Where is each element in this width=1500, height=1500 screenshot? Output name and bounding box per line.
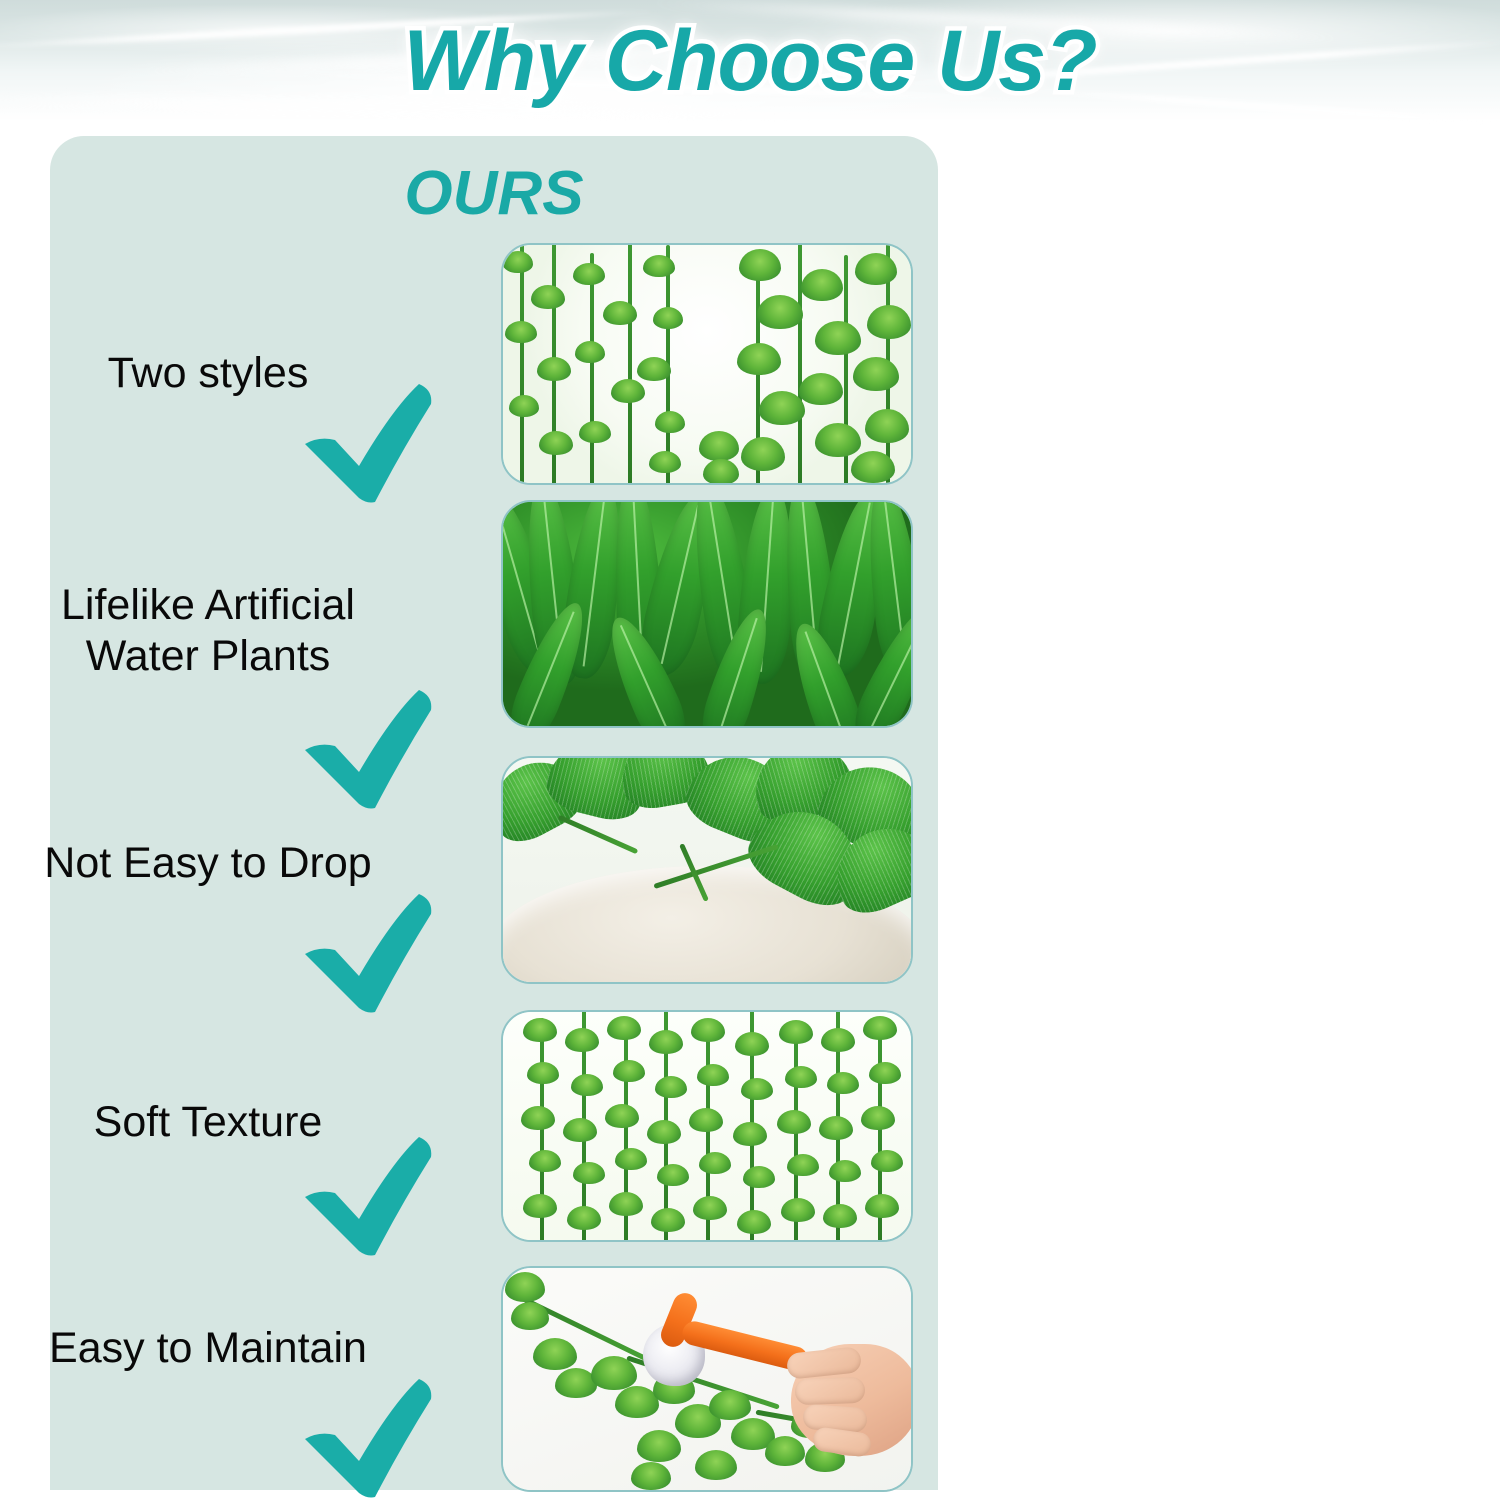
others-item-label: Lack of Realism [958,850,1476,893]
ours-photo-card [501,1266,913,1492]
check-icon [301,1377,436,1499]
ours-photo-card [501,756,913,984]
cross-icon [1190,1238,1282,1330]
check-icon [301,382,436,504]
two-styles-plants-photo [503,245,911,483]
infographic-root: Why Choose Us? OURS Two styles Lifelike … [0,0,1500,1500]
others-heading: OTHERS [958,548,1476,619]
others-item-label: Fragile and Easy to Drop [958,1012,1476,1055]
check-icon [301,892,436,1014]
cross-icon [1263,906,1355,998]
check-icon [301,1135,436,1257]
weighted-base-photo [503,758,911,982]
ours-heading: OURS [50,158,938,229]
others-item-label: Sharp Edges [958,1182,1476,1225]
ours-item-label-line2: Water Plants [0,631,418,682]
page-title: Why Choose Us? [0,12,1500,111]
ours-photo-card [501,1010,913,1242]
ours-item-label: Lifelike Artificial Water Plants [0,580,418,681]
lifelike-leaves-photo [503,502,911,726]
ours-photo-card [501,500,913,728]
ours-photo-card [501,243,913,485]
check-icon [301,688,436,810]
cross-icon [1298,1406,1390,1498]
brush-cleaning-photo [503,1268,911,1490]
others-item-label: Monolithic Design [958,686,1476,729]
cross-icon [1326,1072,1418,1164]
others-item-label: Difficult to Maintain [958,1348,1476,1391]
ours-item-label: Easy to Maintain [0,1323,418,1374]
ours-item-label: Not Easy to Drop [0,838,418,889]
soft-texture-plants-photo [503,1012,911,1240]
ours-item-label-line1: Lifelike Artificial [0,580,418,631]
cross-icon [1258,744,1350,836]
